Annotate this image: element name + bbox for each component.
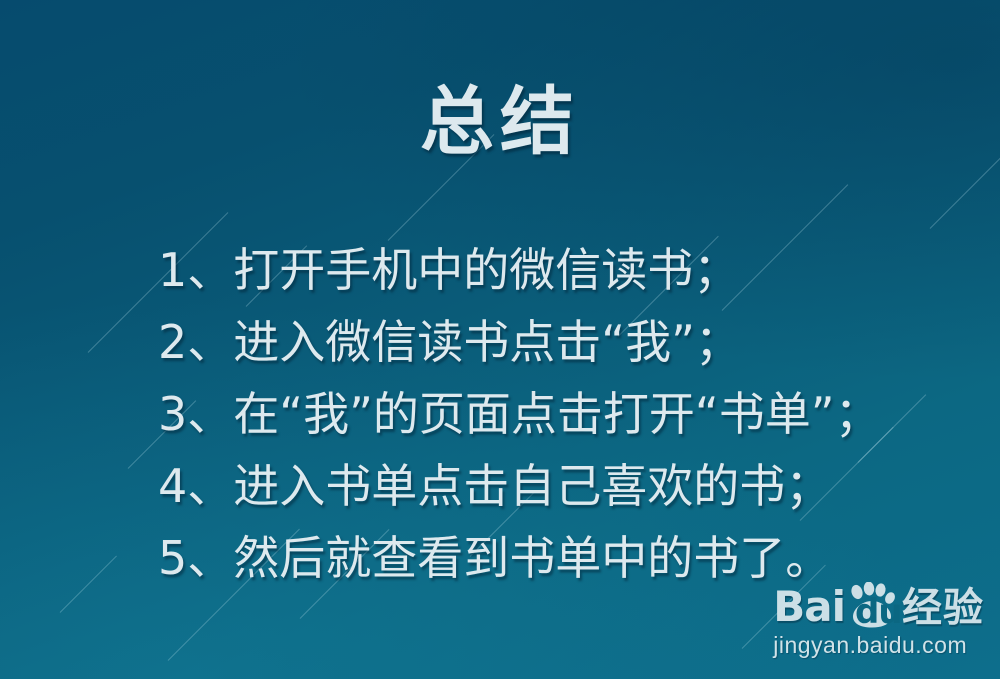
baidu-jingyan-watermark: Bai du 经验 jingyan.baidu.com: [773, 582, 984, 659]
paw-print-icon: du: [846, 582, 896, 628]
watermark-url: jingyan.baidu.com: [773, 632, 984, 659]
watermark-brand-cn: 经验: [902, 588, 984, 628]
slide-body-list: 1、打开手机中的微信读书； 2、进入微信读书点击“我”； 3、在“我”的页面点击…: [158, 234, 881, 594]
list-item: 5、然后就查看到书单中的书了。: [158, 522, 881, 594]
presentation-slide: 总结 1、打开手机中的微信读书； 2、进入微信读书点击“我”； 3、在“我”的页…: [0, 0, 1000, 679]
watermark-brand-latin: Bai: [773, 586, 845, 628]
watermark-logo-row: Bai du 经验: [773, 582, 984, 628]
list-item: 3、在“我”的页面点击打开“书单”；: [158, 378, 881, 450]
diagonal-line: [60, 556, 117, 613]
list-item: 4、进入书单点击自己喜欢的书；: [158, 450, 881, 522]
list-item: 2、进入微信读书点击“我”；: [158, 306, 881, 378]
slide-title: 总结: [0, 62, 1000, 169]
list-item: 1、打开手机中的微信读书；: [158, 234, 881, 306]
watermark-brand-du: du: [855, 595, 902, 629]
